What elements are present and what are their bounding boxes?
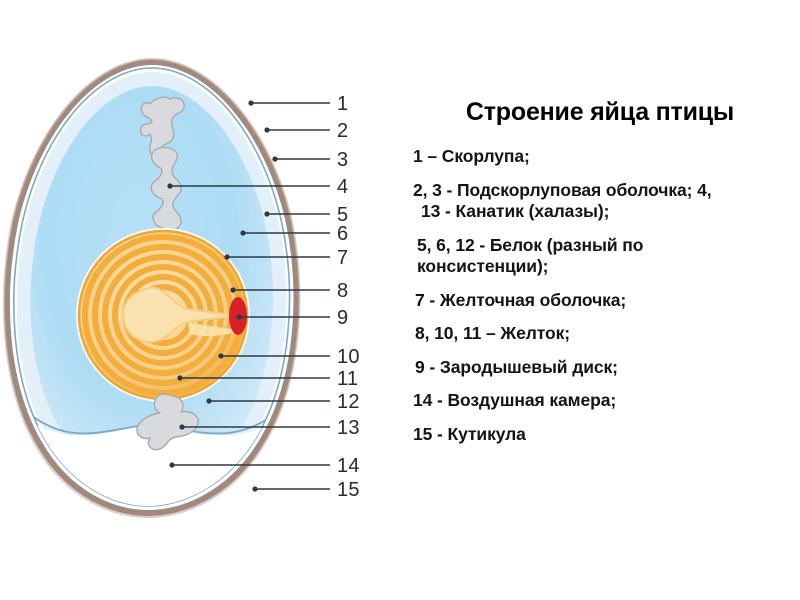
leader-dot-8: [230, 287, 235, 292]
legend-list: 1 – Скорлупа;2, 3 - Подскорлуповая оболо…: [413, 148, 800, 459]
legend-item-albumen-2: консистенции);: [413, 258, 800, 276]
callout-number-12: 12: [337, 392, 360, 412]
leader-dot-9: [236, 314, 241, 319]
leader-dot-10: [218, 353, 223, 358]
leader-dot-7: [224, 254, 229, 259]
callout-number-4: 4: [337, 177, 348, 197]
legend-item-shell: 1 – Скорлупа;: [413, 148, 800, 166]
leader-dot-14: [169, 462, 174, 467]
legend-panel: Строение яйца птицы 1 – Скорлупа;2, 3 - …: [400, 0, 800, 600]
leader-dot-11: [177, 375, 182, 380]
leader-dot-1: [248, 100, 253, 105]
callout-number-15: 15: [337, 480, 360, 500]
leader-dot-5: [264, 211, 269, 216]
callout-number-1: 1: [337, 94, 348, 114]
egg-anatomy-page: 123456789101112131415 Строение яйца птиц…: [0, 0, 800, 600]
yolk-group: [76, 228, 250, 402]
legend-item-vitelline: 7 - Желточная оболочка;: [413, 292, 800, 310]
callout-number-6: 6: [337, 224, 348, 244]
legend-item-membrane: 2, 3 - Подскорлуповая оболочка; 4,: [413, 182, 800, 200]
callout-number-8: 8: [337, 281, 348, 301]
leader-dot-6: [240, 230, 245, 235]
legend-item-chalaza: 13 - Канатик (халазы);: [413, 203, 800, 221]
callout-number-5: 5: [337, 205, 348, 225]
page-title: Строение яйца птицы: [400, 98, 800, 127]
legend-item-germinal: 9 - Зародышевый диск;: [413, 359, 800, 377]
leader-dot-2: [264, 127, 269, 132]
legend-item-albumen-1: 5, 6, 12 - Белок (разный по: [413, 237, 800, 255]
legend-item-yolk: 8, 10, 11 – Желток;: [413, 325, 800, 343]
leader-dot-12: [206, 398, 211, 403]
leader-dot-15: [252, 486, 257, 491]
callout-number-3: 3: [337, 150, 348, 170]
leader-dot-3: [272, 156, 277, 161]
callout-number-9: 9: [337, 308, 348, 328]
leader-dot-4: [167, 183, 172, 188]
callout-number-10: 10: [337, 347, 360, 367]
callout-number-14: 14: [337, 456, 360, 476]
callout-number-7: 7: [337, 248, 348, 268]
legend-item-air-cell: 14 - Воздушная камера;: [413, 392, 800, 410]
legend-item-cuticle: 15 - Кутикула: [413, 426, 800, 444]
callout-number-2: 2: [337, 121, 348, 141]
leader-dot-13: [179, 424, 184, 429]
callout-number-11: 11: [337, 369, 358, 389]
callout-number-13: 13: [337, 418, 360, 438]
egg-diagram: 123456789101112131415: [0, 0, 400, 600]
